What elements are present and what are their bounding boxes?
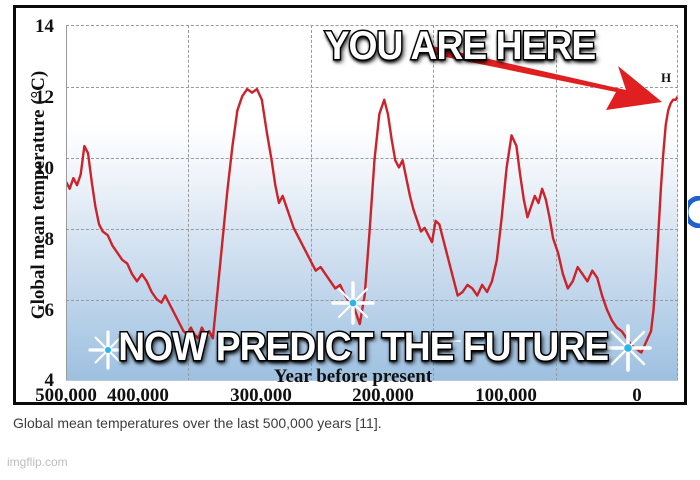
blue-arc-icon [688, 196, 700, 228]
y-tick-label-8: 8 [14, 229, 54, 251]
x-tick-label-0: 0 [617, 385, 657, 407]
meme-bottom-text: NOW PREDICT THE FUTURE [118, 325, 602, 369]
x-tick-label-100000: 100,000 [450, 385, 562, 407]
figure-caption: Global mean temperatures over the last 5… [13, 415, 382, 431]
x-tick-label-300000: 300,000 [205, 385, 317, 407]
meme-image: Global mean temperature (°C) 14 12 10 8 … [0, 0, 700, 480]
plot-axis-left [66, 25, 67, 381]
y-tick-label-10: 10 [14, 158, 54, 180]
meme-top-text: YOU ARE HERE [321, 24, 600, 68]
imgflip-watermark: imgflip.com [7, 455, 68, 469]
y-tick-label-6: 6 [14, 300, 54, 322]
x-axis-title: Year before present [16, 366, 690, 388]
y-tick-label-12: 12 [14, 87, 54, 109]
y-tick-label-14: 14 [14, 16, 54, 38]
point-label-h: H [661, 70, 671, 86]
x-tick-label-400000: 400,000 [82, 385, 194, 407]
x-tick-label-200000: 200,000 [327, 385, 439, 407]
plot-border-right [677, 25, 678, 381]
